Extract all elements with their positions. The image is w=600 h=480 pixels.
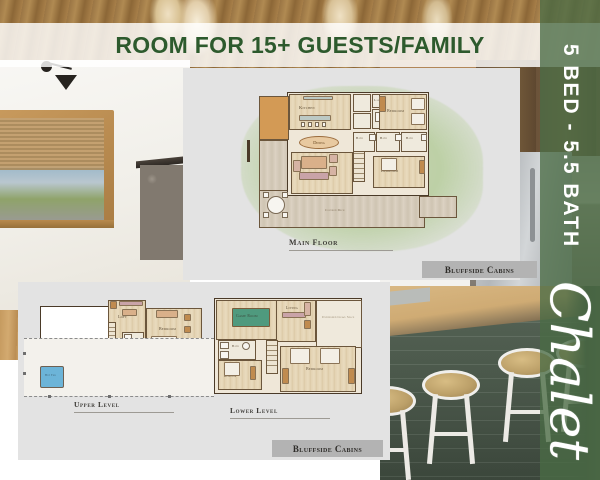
lower-plans-panel: Open to Below Loft Bedroom Bath Upper Le… [18,282,390,460]
room-label-hot-tub: Hot Tub [45,374,56,377]
bar-stool-icon [301,122,305,127]
shower-icon [369,134,376,141]
bar-stool [422,370,480,464]
vanity-icon [220,342,229,349]
shower-icon [395,134,402,141]
living-rug [301,156,327,169]
armchair [304,302,311,316]
bed [320,348,340,364]
bed [411,113,425,125]
shower-icon [220,351,229,359]
room-label-bedroom-ne: Bedroom [387,108,404,113]
brand-badge-bottom: Bluffside Cabins [272,440,383,457]
room-label-upper-bedroom: Bedroom [159,326,176,331]
bed-bath-spec: 5 BED - 5.5 BATH [558,44,582,248]
armchair [329,154,338,163]
chalet-script-label: Chalet [539,280,600,459]
spec-text-wrap: 5 BED - 5.5 BATH [542,6,598,306]
bar-stool-icon [322,122,326,127]
room-label-crawl-space: Unfinished Crawl Space [322,316,354,319]
fridge-handle-icon [530,168,535,242]
lower-level-caption: Lower Level [230,406,278,415]
kitchen-counter [303,96,333,100]
dresser [348,368,355,384]
sofa [282,312,306,318]
dresser [282,368,289,384]
patio-chair [282,192,288,198]
loft-table [122,309,137,316]
dimension-tick [23,372,26,375]
window-frame [0,110,114,228]
room-label-bath-1: Bath [356,136,363,140]
room-entry [353,94,371,112]
bamboo-blind [0,118,104,170]
armchair [293,160,301,172]
hot-tub [40,366,64,388]
bed [224,362,240,376]
dresser [379,96,386,112]
nightstand [184,326,191,333]
bar-stool-icon [308,122,312,127]
sconce-shade-icon [55,75,77,90]
caption-rule [289,250,393,251]
bed [411,98,425,110]
dimension-tick [108,395,111,398]
cabinet [304,320,311,329]
spec-sidebar: 5 BED - 5.5 BATH Chalet [540,0,600,480]
dimension-line-bottom [24,396,214,397]
dimension-line-top [24,338,214,339]
main-floor-caption: Main Floor [289,238,338,247]
bedroom-bench [156,310,178,318]
listing-graphic: ROOM FOR 15+ GUESTS/FAMILY Kitchen Dinin… [0,0,600,480]
sofa [299,172,329,180]
dimension-tick [168,395,171,398]
dimension-tick [48,395,51,398]
brand-badge-top: Bluffside Cabins [422,261,537,278]
dresser [419,160,425,174]
room-bonus-west [259,96,289,140]
upper-level-caption: Upper Level [74,400,120,409]
header-banner: ROOM FOR 15+ GUESTS/FAMILY [0,23,600,67]
nightstand [184,314,191,321]
loft-sofa [119,301,143,306]
room-label-bath-3: Bath [406,136,413,140]
main-floor-panel: Kitchen Dining Laundry [183,68,520,280]
bed [381,158,397,171]
room-pantry [353,113,371,129]
room-label-lower-bath: Bath [232,344,239,348]
room-label-kitchen: Kitchen [299,105,315,110]
armchair [329,166,337,176]
bed [290,348,310,364]
room-label-dining: Dining [299,136,339,149]
script-word-wrap: Chalet [538,262,600,478]
deck-rail [247,140,250,162]
patio-chair [263,192,269,198]
patio-chair [282,212,288,218]
caption-rule [230,418,330,419]
kitchen-island [299,115,331,121]
room-label-lower-bedroom-2: Bedroom [306,366,323,371]
dresser [250,366,256,380]
caption-rule [74,412,174,413]
dimension-tick [23,352,26,355]
room-label-bath-2: Bath [380,136,387,140]
bar-stool-icon [315,122,319,127]
window-sill [0,220,114,228]
room-label-living: Living [286,306,298,310]
sink-icon [242,342,250,350]
room-crawl-space [316,300,362,348]
shower-icon [421,134,427,141]
patio-chair [263,212,269,218]
room-label-covered-deck: Covered Deck [325,208,345,212]
cabinet [110,301,117,309]
lower-stairs [266,340,278,374]
deck-stairs-east [419,196,457,218]
room-label-game-room: Game Room [236,314,258,318]
page-title: ROOM FOR 15+ GUESTS/FAMILY [115,32,484,59]
